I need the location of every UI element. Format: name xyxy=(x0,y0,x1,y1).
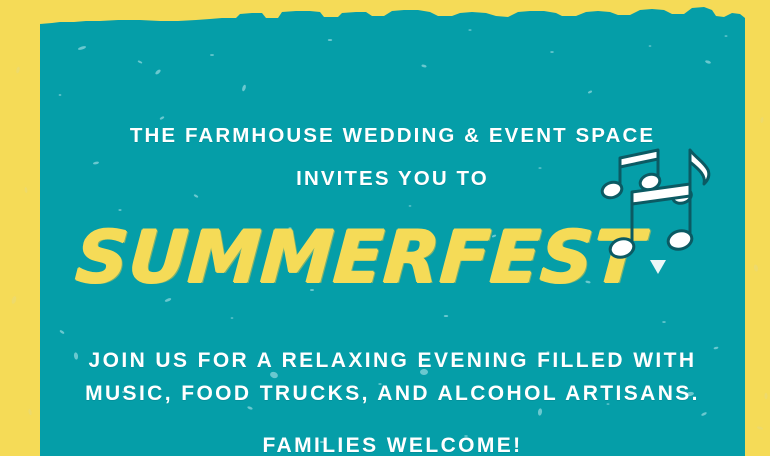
triangle-speck xyxy=(650,260,666,274)
beamed-eighth-notes-large xyxy=(608,184,694,260)
body-line-1: JOIN US FOR A RELAXING EVENING FILLED WI… xyxy=(40,350,745,371)
music-notes-icon xyxy=(598,148,728,278)
event-poster: THE FARMHOUSE WEDDING & EVENT SPACE INVI… xyxy=(0,0,770,456)
body-line-2: MUSIC, FOOD TRUCKS, AND ALCOHOL ARTISANS… xyxy=(40,383,745,404)
body-line-3: FAMILIES WELCOME! xyxy=(40,435,745,456)
event-title: SUMMERFEST xyxy=(37,221,682,293)
headline-line-1: THE FARMHOUSE WEDDING & EVENT SPACE xyxy=(40,126,745,147)
